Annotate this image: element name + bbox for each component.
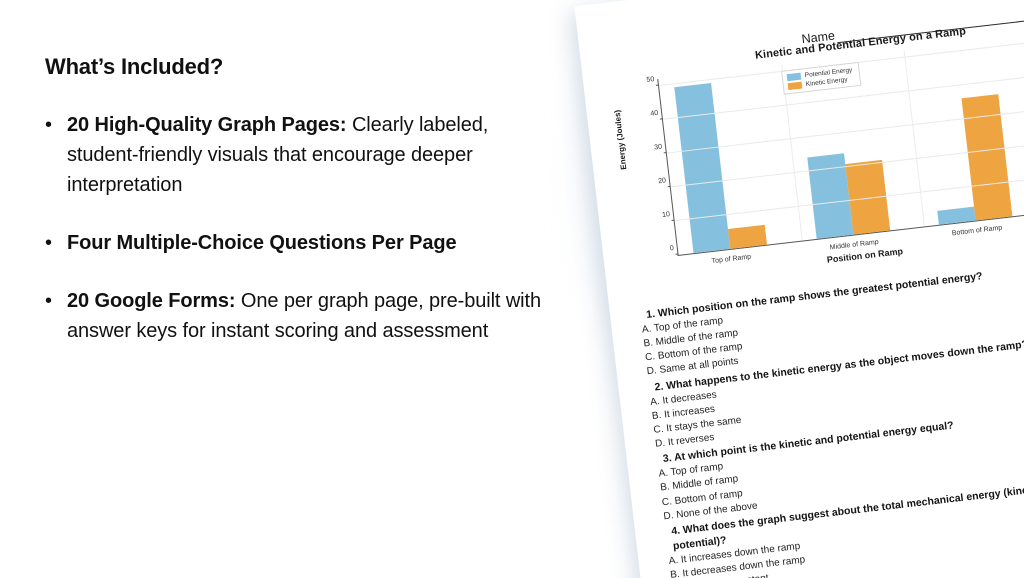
y-axis-tick: 40	[650, 110, 659, 118]
bar-potential	[674, 83, 730, 253]
bullet-text: 20 High-Quality Graph Pages: Clearly lab…	[67, 110, 565, 200]
y-axis-tick: 20	[658, 177, 667, 185]
bullet-lead: 20 High-Quality Graph Pages:	[67, 114, 347, 136]
page-title: What’s Included?	[45, 54, 565, 80]
list-item: • 20 Google Forms: One per graph page, p…	[45, 286, 565, 346]
y-axis-tick: 30	[654, 143, 663, 151]
bullet-lead: Four Multiple-Choice Questions Per Page	[67, 232, 457, 254]
legend-swatch-icon	[788, 82, 803, 91]
list-item: • Four Multiple-Choice Questions Per Pag…	[45, 228, 565, 258]
bullet-icon: •	[45, 286, 67, 316]
worksheet-page: Name Kinetic and Potential Energy on a R…	[574, 0, 1024, 578]
y-axis-tick: 0	[670, 245, 675, 252]
y-axis-tick: 50	[646, 76, 655, 84]
y-axis-tick: 10	[662, 211, 671, 219]
bullet-text: Four Multiple-Choice Questions Per Page	[67, 228, 565, 258]
content-column: What’s Included? • 20 High-Quality Graph…	[45, 54, 565, 346]
list-item: • 20 High-Quality Graph Pages: Clearly l…	[45, 110, 565, 200]
y-axis-label: Energy (Joules)	[613, 109, 629, 170]
bullet-lead: 20 Google Forms:	[67, 290, 235, 312]
question-list: 1. Which position on the ramp shows the …	[632, 259, 1024, 578]
bullet-icon: •	[45, 110, 67, 140]
bar-kinetic	[728, 224, 767, 249]
bar-potential	[937, 207, 975, 225]
legend-swatch-icon	[787, 73, 802, 82]
energy-bar-chart: Kinetic and Potential Energy on a Ramp E…	[611, 14, 1024, 296]
slide-canvas: What’s Included? • 20 High-Quality Graph…	[0, 0, 1024, 578]
bullet-text: 20 Google Forms: One per graph page, pre…	[67, 286, 565, 346]
bullet-icon: •	[45, 228, 67, 258]
worksheet-preview: Name Kinetic and Potential Energy on a R…	[574, 0, 1024, 578]
